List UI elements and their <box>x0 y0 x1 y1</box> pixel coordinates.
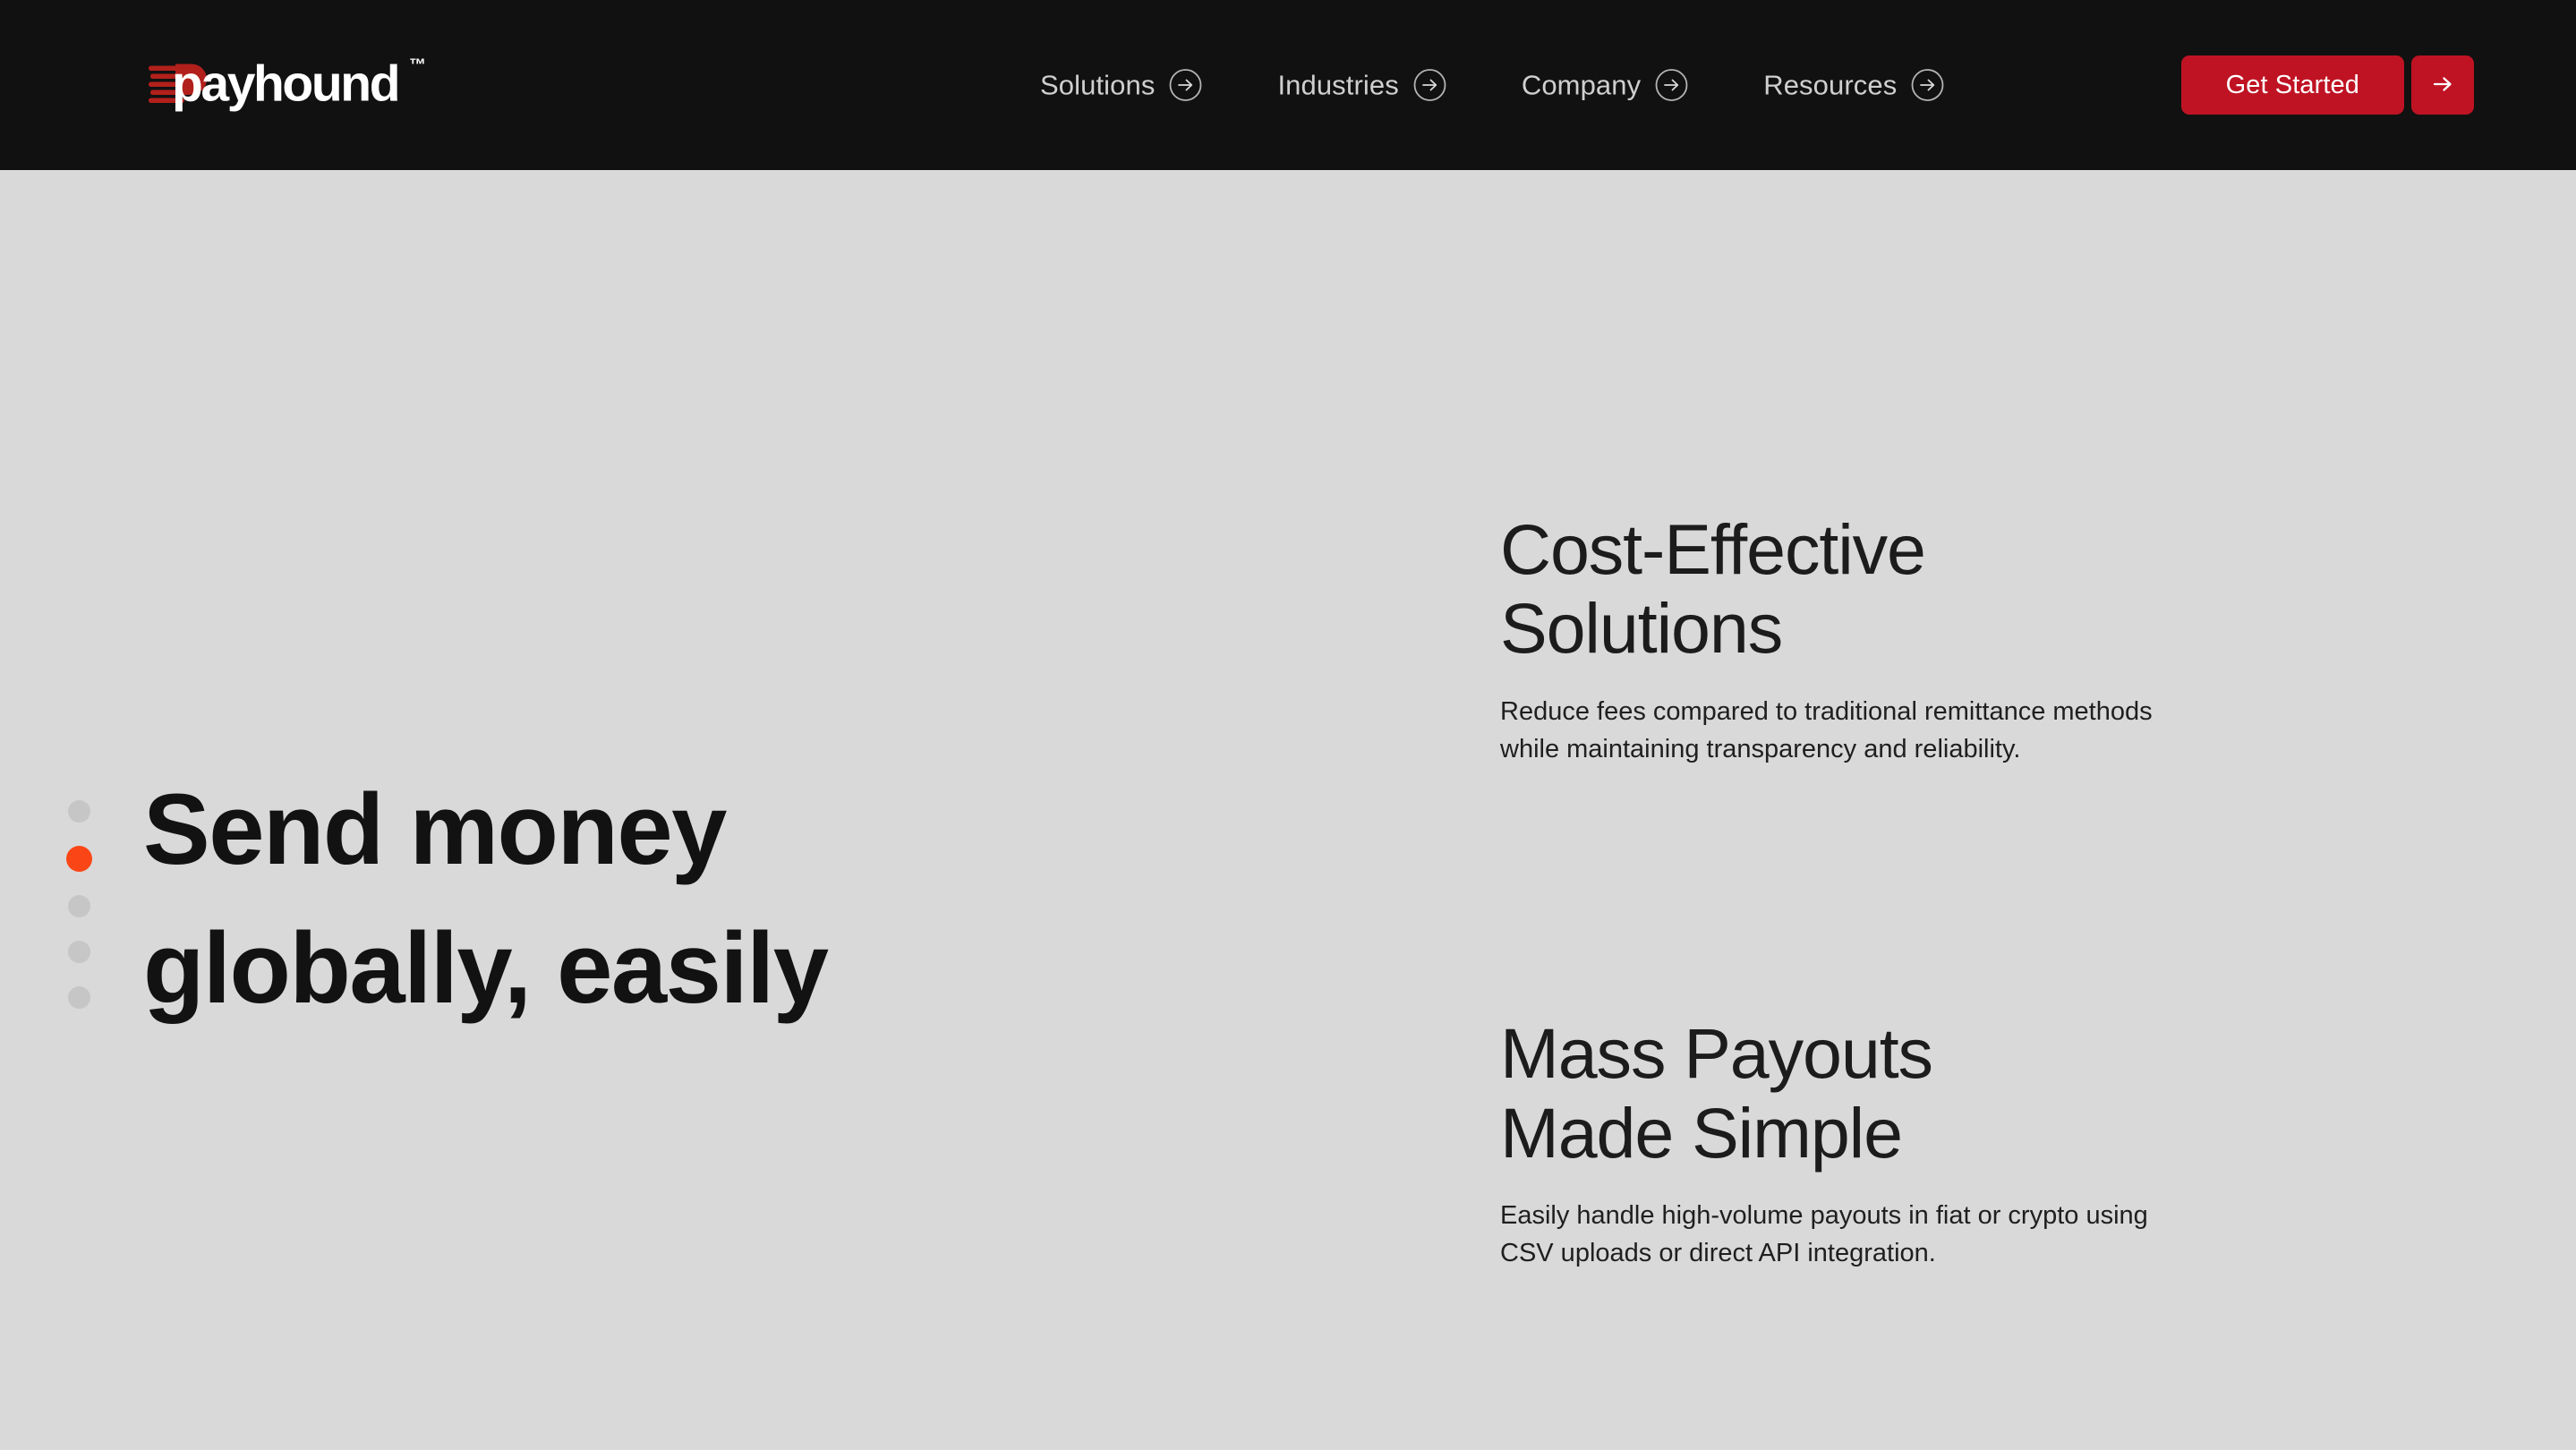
carousel-dot-5[interactable] <box>68 986 90 1009</box>
arrow-right-icon <box>2427 69 2458 102</box>
nav-item-label: Company <box>1522 69 1641 101</box>
feature-body-text: Easily handle high-volume payouts in fia… <box>1500 1198 2167 1273</box>
header-cta-group: Get Started <box>2181 55 2474 115</box>
feature-block-mass-payouts-made-simple: Mass Payouts Made Simple Easily handle h… <box>1500 1014 2234 1272</box>
cta-arrow-button[interactable] <box>2411 55 2474 115</box>
payhound-speed-lines-mark: payhound <box>149 54 408 117</box>
carousel-dot-4[interactable] <box>68 941 90 963</box>
feature-title-line-2: Solutions <box>1500 588 1782 668</box>
feature-column: Cost-Effective Solutions Reduce fees com… <box>1500 510 2234 1273</box>
nav-item-label: Resources <box>1763 69 1897 101</box>
feature-title: Mass Payouts Made Simple <box>1500 1014 2234 1173</box>
hero-headline-line-2: globally, easily <box>143 900 827 1038</box>
carousel-dots <box>68 800 92 1009</box>
arrow-right-circle-icon <box>1911 69 1944 102</box>
get-started-button[interactable]: Get Started <box>2181 55 2404 115</box>
feature-body-text: Reduce fees compared to traditional remi… <box>1500 694 2167 769</box>
feature-block-cost-effective-solutions: Cost-Effective Solutions Reduce fees com… <box>1500 510 2234 768</box>
feature-title-line-2: Made Simple <box>1500 1093 1902 1173</box>
hero-headline: Send money globally, easily <box>143 761 827 1037</box>
carousel-dot-3[interactable] <box>68 895 90 917</box>
hero-section: Send money globally, easily Cost-Effecti… <box>0 170 2576 1450</box>
carousel-dot-2[interactable] <box>66 846 92 872</box>
arrow-right-circle-icon <box>1655 69 1688 102</box>
site-header: payhound ™ Solutions Industries <box>0 0 2576 170</box>
nav-item-industries[interactable]: Industries <box>1240 69 1483 102</box>
feature-title-line-1: Cost-Effective <box>1500 509 1925 589</box>
arrow-right-circle-icon <box>1413 69 1446 102</box>
logo-trademark: ™ <box>409 57 426 74</box>
nav-item-solutions[interactable]: Solutions <box>1002 69 1240 102</box>
main-navigation: Solutions Industries Company <box>1002 69 1982 102</box>
nav-item-label: Solutions <box>1040 69 1155 101</box>
nav-item-label: Industries <box>1277 69 1398 101</box>
nav-item-resources[interactable]: Resources <box>1726 69 1982 102</box>
nav-item-company[interactable]: Company <box>1484 69 1726 102</box>
logo-link[interactable]: payhound ™ <box>149 54 426 117</box>
carousel-dot-1[interactable] <box>68 800 90 823</box>
hero-headline-line-1: Send money <box>143 761 827 900</box>
feature-title: Cost-Effective Solutions <box>1500 510 2234 669</box>
svg-text:payhound: payhound <box>172 55 398 113</box>
feature-title-line-1: Mass Payouts <box>1500 1013 1932 1093</box>
arrow-right-circle-icon <box>1169 69 1202 102</box>
